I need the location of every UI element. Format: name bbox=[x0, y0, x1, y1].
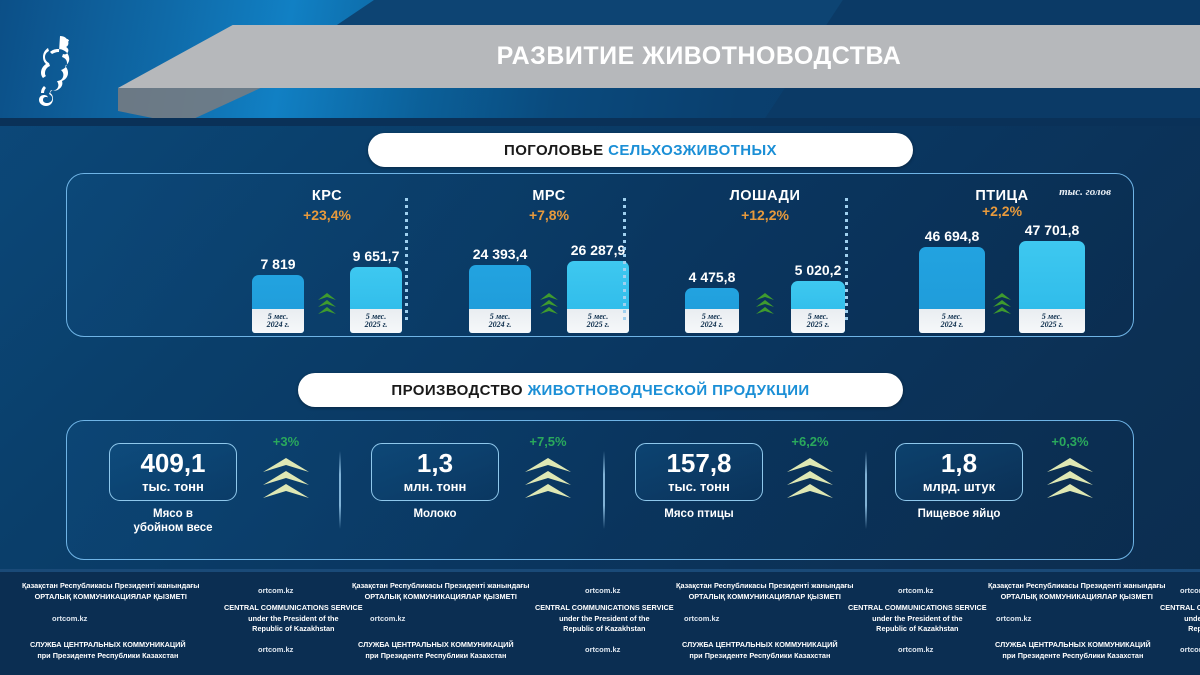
livestock-group-2-bar-curr: 26 287,95 мес.2025 г. bbox=[567, 261, 629, 333]
production-card-2-label: Молоко bbox=[371, 507, 499, 521]
livestock-group-3-growth-chevrons-icon bbox=[755, 291, 775, 317]
footer-ru-block-4: СЛУЖБА ЦЕНТРАЛЬНЫХ КОММУНИКАЦИЙпри Прези… bbox=[995, 640, 1151, 661]
livestock-group-2-growth: +7,8% bbox=[449, 207, 649, 223]
livestock-group-4-bar-curr-value: 47 701,8 bbox=[1025, 222, 1080, 238]
livestock-group-2: МРС+7,8%24 393,45 мес.2024 г.26 287,95 м… bbox=[449, 174, 649, 338]
footer-ru-block-3: СЛУЖБА ЦЕНТРАЛЬНЫХ КОММУНИКАЦИЙпри Прези… bbox=[682, 640, 838, 661]
livestock-group-2-bar-curr-rect: 5 мес.2025 г. bbox=[567, 261, 629, 333]
livestock-title-dark: ПОГОЛОВЬЕ bbox=[504, 142, 603, 159]
production-card-3-value: 157,8 bbox=[666, 450, 731, 476]
page-title: РАЗВИТИЕ ЖИВОТНОВОДСТВА bbox=[497, 42, 902, 71]
footer-url-row2-2[interactable]: ortcom.kz bbox=[370, 614, 405, 623]
livestock-group-3-bar-curr-rect: 5 мес.2025 г. bbox=[791, 281, 845, 333]
header-underline bbox=[0, 118, 1200, 126]
production-card-1-box: 409,1тыс. тонн bbox=[109, 443, 237, 501]
production-card-2-unit: млн. тонн bbox=[404, 479, 467, 494]
livestock-group-3-bar-prev-value: 4 475,8 bbox=[689, 269, 736, 285]
livestock-panel: тыс. голов КРС+23,4%7 8195 мес.2024 г.9 … bbox=[66, 173, 1134, 337]
footer-en-block-1: CENTRAL COMMUNICATIONS SERVICEunder the … bbox=[224, 603, 363, 635]
production-card-1-value: 409,1 bbox=[140, 450, 205, 476]
snow-leopard-emblem-icon bbox=[26, 30, 88, 110]
livestock-group-1-bar-prev-period: 5 мес.2024 г. bbox=[252, 309, 304, 333]
production-card-1-growth: +3% bbox=[255, 434, 317, 449]
infographic-root: РАЗВИТИЕ ЖИВОТНОВОДСТВА ПОГОЛОВЬЕ СЕЛЬХО… bbox=[0, 0, 1200, 675]
footer-kz-block-1: Қазақстан Республикасы Президенті жанынд… bbox=[22, 581, 200, 602]
livestock-group-1-bar-curr-value: 9 651,7 bbox=[353, 248, 400, 264]
production-card-4-label: Пищевое яйцо bbox=[895, 507, 1023, 521]
livestock-group-1-growth: +23,4% bbox=[227, 207, 427, 223]
livestock-group-4-bar-prev-value: 46 694,8 bbox=[925, 228, 980, 244]
livestock-group-2-growth-chevrons-icon bbox=[539, 291, 559, 317]
livestock-group-1-bar-curr-rect: 5 мес.2025 г. bbox=[350, 267, 402, 333]
production-card-2-value: 1,3 bbox=[417, 450, 453, 476]
footer-url-row3-3[interactable]: ortcom.kz bbox=[898, 645, 933, 654]
production-card-4-unit: млрд. штук bbox=[923, 479, 995, 494]
livestock-group-4-name: ПТИЦА bbox=[887, 188, 1117, 204]
production-card-2-growth-chevrons-icon bbox=[517, 455, 579, 501]
production-card-1: 409,1тыс. тоннМясо вубойном весе bbox=[109, 421, 237, 561]
footer-url-row1-1[interactable]: ortcom.kz bbox=[258, 586, 293, 595]
livestock-group-1-bar-prev-rect: 5 мес.2024 г. bbox=[252, 275, 304, 333]
production-card-3-growth: +6,2% bbox=[779, 434, 841, 449]
section-title-livestock: ПОГОЛОВЬЕ СЕЛЬХОЗЖИВОТНЫХ bbox=[368, 133, 913, 167]
production-title-blue: ЖИВОТНОВОДЧЕСКОЙ ПРОДУКЦИИ bbox=[528, 382, 810, 399]
footer-kz-block-2: Қазақстан Республикасы Президенті жанынд… bbox=[352, 581, 530, 602]
livestock-group-3: ЛОШАДИ+12,2%4 475,85 мес.2024 г.5 020,25… bbox=[665, 174, 865, 338]
livestock-group-4-bar-prev-rect: 5 мес.2024 г. bbox=[919, 247, 985, 333]
footer-url-row2-1[interactable]: ortcom.kz bbox=[52, 614, 87, 623]
footer: Қазақстан Республикасы Президенті жанынд… bbox=[0, 569, 1200, 675]
section-title-production: ПРОИЗВОДСТВО ЖИВОТНОВОДЧЕСКОЙ ПРОДУКЦИИ bbox=[298, 373, 903, 407]
production-card-1-label: Мясо вубойном весе bbox=[109, 507, 237, 536]
production-divider-3 bbox=[865, 451, 867, 529]
livestock-group-2-bar-curr-period: 5 мес.2025 г. bbox=[567, 309, 629, 333]
livestock-group-2-bar-prev-rect: 5 мес.2024 г. bbox=[469, 265, 531, 333]
livestock-group-4-growth: +2,2% bbox=[887, 203, 1117, 219]
livestock-group-3-bar-prev-rect: 5 мес.2024 г. bbox=[685, 288, 739, 333]
production-panel: 409,1тыс. тоннМясо вубойном весе+3%1,3мл… bbox=[66, 420, 1134, 560]
footer-en-block-2: CENTRAL COMMUNICATIONS SERVICEunder the … bbox=[535, 603, 674, 635]
livestock-group-3-bar-curr: 5 020,25 мес.2025 г. bbox=[791, 281, 845, 333]
livestock-group-2-bar-prev-value: 24 393,4 bbox=[473, 246, 528, 262]
livestock-group-4-bar-prev-period: 5 мес.2024 г. bbox=[919, 309, 985, 333]
footer-en-block-4: CENTRAL COMMUNICATIONS SERVICEunder the … bbox=[1160, 603, 1200, 635]
footer-url-row1-2[interactable]: ortcom.kz bbox=[585, 586, 620, 595]
production-card-2-box: 1,3млн. тонн bbox=[371, 443, 499, 501]
livestock-group-3-growth: +12,2% bbox=[665, 207, 865, 223]
production-card-2-growth: +7,5% bbox=[517, 434, 579, 449]
livestock-group-2-bar-prev-period: 5 мес.2024 г. bbox=[469, 309, 531, 333]
production-card-1-unit: тыс. тонн bbox=[142, 479, 204, 494]
livestock-group-1-bar-curr: 9 651,75 мес.2025 г. bbox=[350, 267, 402, 333]
footer-url-row2-4[interactable]: ortcom.kz bbox=[996, 614, 1031, 623]
livestock-group-1: КРС+23,4%7 8195 мес.2024 г.9 651,75 мес.… bbox=[227, 174, 427, 338]
production-title-dark: ПРОИЗВОДСТВО bbox=[391, 382, 523, 399]
footer-url-row3-4[interactable]: ortcom.kz bbox=[1180, 645, 1200, 654]
footer-url-row2-3[interactable]: ortcom.kz bbox=[684, 614, 719, 623]
livestock-group-3-bar-curr-value: 5 020,2 bbox=[795, 262, 842, 278]
livestock-group-3-name: ЛОШАДИ bbox=[665, 188, 865, 204]
footer-url-row1-4[interactable]: ortcom.kz bbox=[1180, 586, 1200, 595]
footer-url-row3-2[interactable]: ortcom.kz bbox=[585, 645, 620, 654]
livestock-group-1-growth-chevrons-icon bbox=[317, 291, 337, 317]
livestock-group-2-bar-prev: 24 393,45 мес.2024 г. bbox=[469, 265, 531, 333]
livestock-divider-2 bbox=[623, 198, 626, 324]
production-card-3-label: Мясо птицы bbox=[635, 507, 763, 521]
production-card-4-growth: +0,3% bbox=[1039, 434, 1101, 449]
production-card-4-growth-chevrons-icon bbox=[1039, 455, 1101, 501]
livestock-divider-1 bbox=[405, 198, 408, 324]
livestock-group-1-bar-prev: 7 8195 мес.2024 г. bbox=[252, 275, 304, 333]
production-card-4-value: 1,8 bbox=[941, 450, 977, 476]
footer-kz-block-4: Қазақстан Республикасы Президенті жанынд… bbox=[988, 581, 1166, 602]
production-card-3-box: 157,8тыс. тонн bbox=[635, 443, 763, 501]
livestock-group-4-growth-chevrons-icon bbox=[992, 291, 1012, 317]
livestock-group-1-name: КРС bbox=[227, 188, 427, 204]
footer-url-row3-1[interactable]: ortcom.kz bbox=[258, 645, 293, 654]
livestock-title-blue: СЕЛЬХОЗЖИВОТНЫХ bbox=[608, 142, 777, 159]
livestock-group-1-bar-curr-period: 5 мес.2025 г. bbox=[350, 309, 402, 333]
footer-ru-block-2: СЛУЖБА ЦЕНТРАЛЬНЫХ КОММУНИКАЦИЙпри Прези… bbox=[358, 640, 514, 661]
footer-en-block-3: CENTRAL COMMUNICATIONS SERVICEunder the … bbox=[848, 603, 987, 635]
livestock-group-1-bar-prev-value: 7 819 bbox=[260, 256, 295, 272]
production-card-3: 157,8тыс. тоннМясо птицы bbox=[635, 421, 763, 561]
livestock-group-3-bar-prev-period: 5 мес.2024 г. bbox=[685, 309, 739, 333]
livestock-group-4: ПТИЦА+2,2%46 694,85 мес.2024 г.47 701,85… bbox=[887, 174, 1117, 338]
production-card-4-box: 1,8млрд. штук bbox=[895, 443, 1023, 501]
production-divider-1 bbox=[339, 451, 341, 529]
livestock-group-4-bar-curr-period: 5 мес.2025 г. bbox=[1019, 309, 1085, 333]
livestock-group-4-bar-curr: 47 701,85 мес.2025 г. bbox=[1019, 241, 1085, 333]
production-card-3-growth-chevrons-icon bbox=[779, 455, 841, 501]
livestock-group-3-bar-curr-period: 5 мес.2025 г. bbox=[791, 309, 845, 333]
header-strip: РАЗВИТИЕ ЖИВОТНОВОДСТВА bbox=[118, 25, 1200, 88]
production-card-3-unit: тыс. тонн bbox=[668, 479, 730, 494]
footer-url-row1-3[interactable]: ortcom.kz bbox=[898, 586, 933, 595]
livestock-group-4-bar-prev: 46 694,85 мес.2024 г. bbox=[919, 247, 985, 333]
production-card-1-growth-chevrons-icon bbox=[255, 455, 317, 501]
livestock-divider-3 bbox=[845, 198, 848, 324]
livestock-group-3-bar-prev: 4 475,85 мес.2024 г. bbox=[685, 288, 739, 333]
footer-ru-block-1: СЛУЖБА ЦЕНТРАЛЬНЫХ КОММУНИКАЦИЙпри Прези… bbox=[30, 640, 186, 661]
footer-kz-block-3: Қазақстан Республикасы Президенті жанынд… bbox=[676, 581, 854, 602]
livestock-group-4-bar-curr-rect: 5 мес.2025 г. bbox=[1019, 241, 1085, 333]
production-divider-2 bbox=[603, 451, 605, 529]
production-card-2: 1,3млн. тоннМолоко bbox=[371, 421, 499, 561]
livestock-group-2-name: МРС bbox=[449, 188, 649, 204]
production-card-4: 1,8млрд. штукПищевое яйцо bbox=[895, 421, 1023, 561]
livestock-group-2-bar-curr-value: 26 287,9 bbox=[571, 242, 626, 258]
